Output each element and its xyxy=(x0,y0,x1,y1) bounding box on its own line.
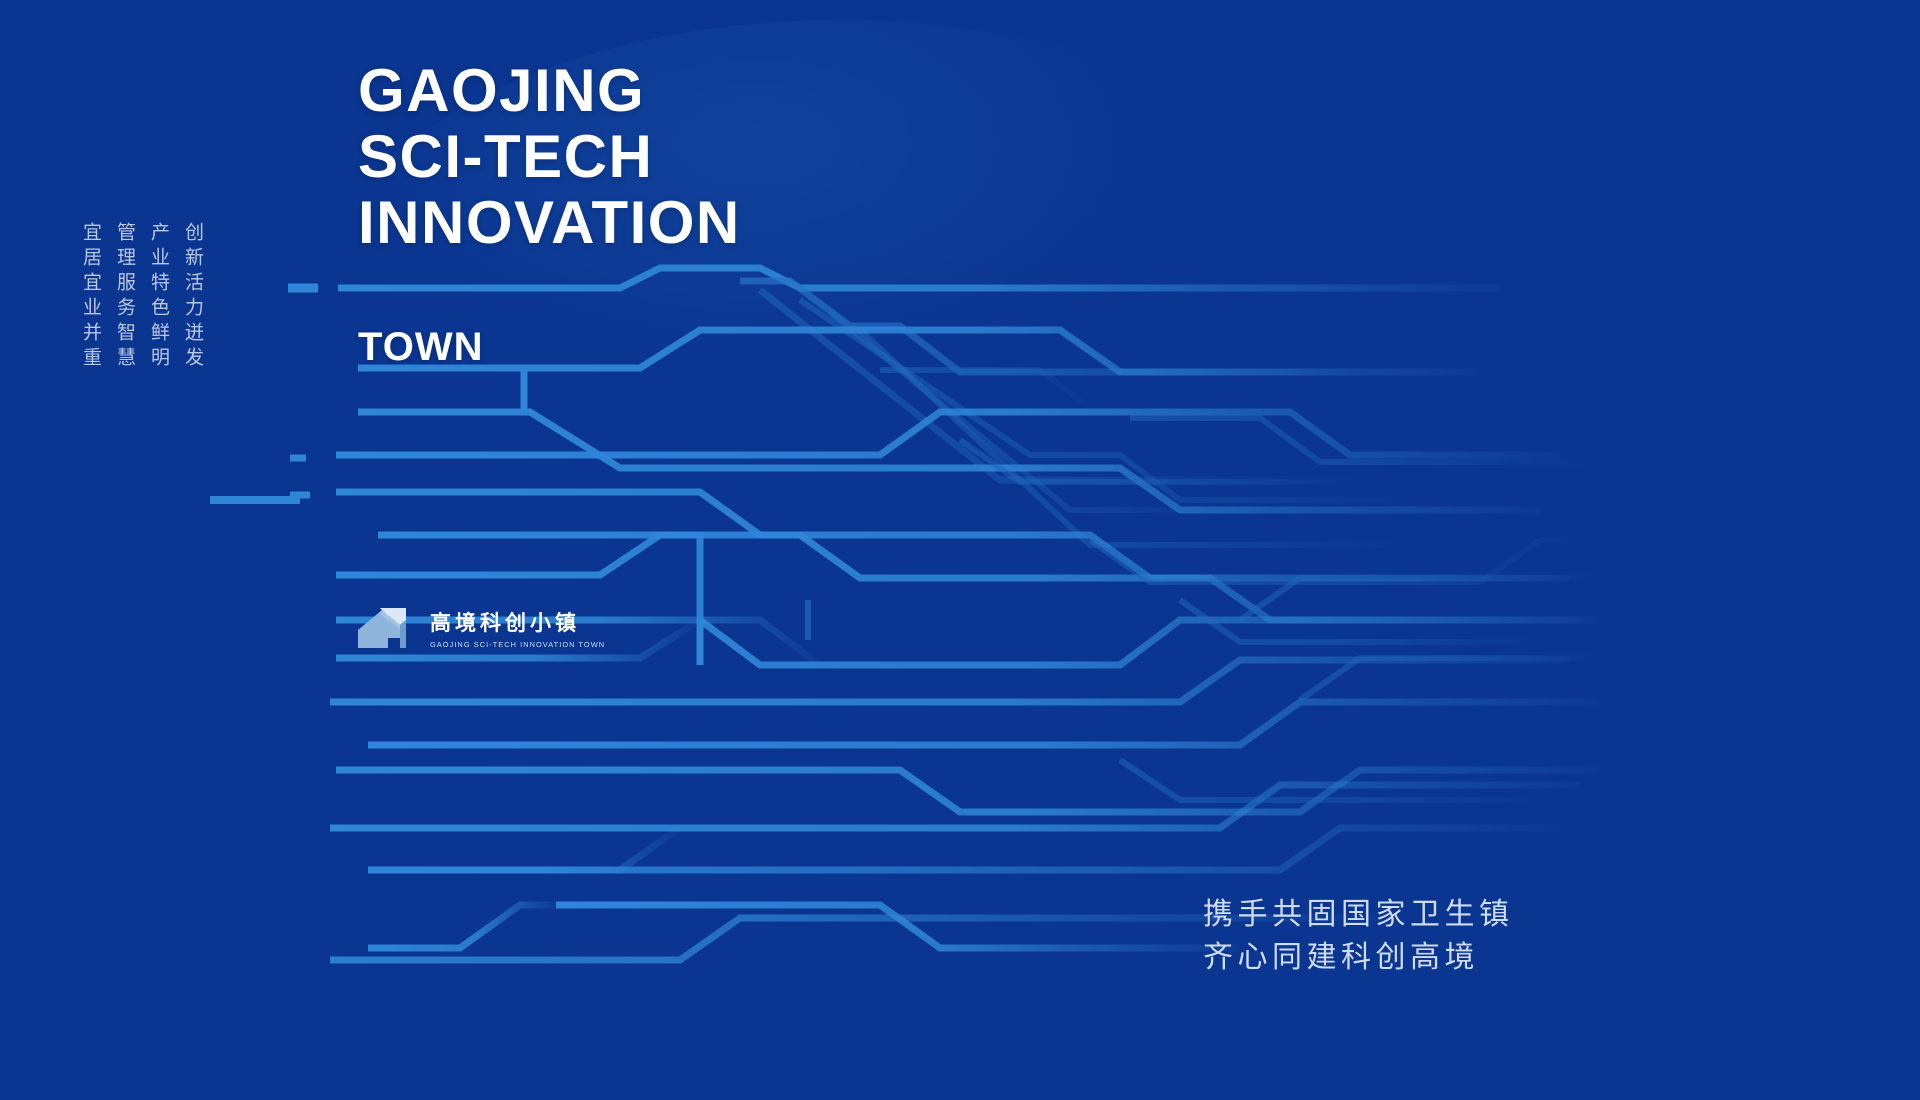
vertical-slogan-column: 宜居宜业并重 xyxy=(78,222,103,372)
vertical-slogan: 创新活力迸发 产业特色鲜明 管理服务智慧 宜居宜业并重 xyxy=(78,222,205,372)
logo-chinese-name: 高境科创小镇 xyxy=(430,607,605,637)
vertical-slogan-column: 管理服务智慧 xyxy=(112,222,137,372)
bottom-slogan: 携手共固国家卫生镇 齐心同建科创高境 xyxy=(1203,896,1514,977)
vertical-slogan-column: 创新活力迸发 xyxy=(180,222,205,372)
bottom-slogan-line-2: 齐心同建科创高境 xyxy=(1203,939,1514,977)
headline-line-3: INNOVATION xyxy=(358,190,978,256)
logo-text-block: 高境科创小镇 GAOJING SCI-TECH INNOVATION TOWN xyxy=(430,607,605,649)
bottom-slogan-line-1: 携手共固国家卫生镇 xyxy=(1203,896,1514,934)
logo-english-name: GAOJING SCI-TECH INNOVATION TOWN xyxy=(430,640,605,649)
headline-town-word: TOWN xyxy=(358,325,483,370)
headline-line-2: SCI-TECH xyxy=(358,124,978,190)
headline-block: GAOJING SCI-TECH INNOVATION xyxy=(358,58,978,256)
vertical-slogan-column: 产业特色鲜明 xyxy=(146,222,171,372)
poster-canvas: 创新活力迸发 产业特色鲜明 管理服务智慧 宜居宜业并重 GAOJING SCI-… xyxy=(0,0,1920,1100)
logo-lockup: 高境科创小镇 GAOJING SCI-TECH INNOVATION TOWN xyxy=(356,604,605,652)
house-roof-icon xyxy=(356,604,416,652)
headline-line-1: GAOJING xyxy=(358,58,978,124)
